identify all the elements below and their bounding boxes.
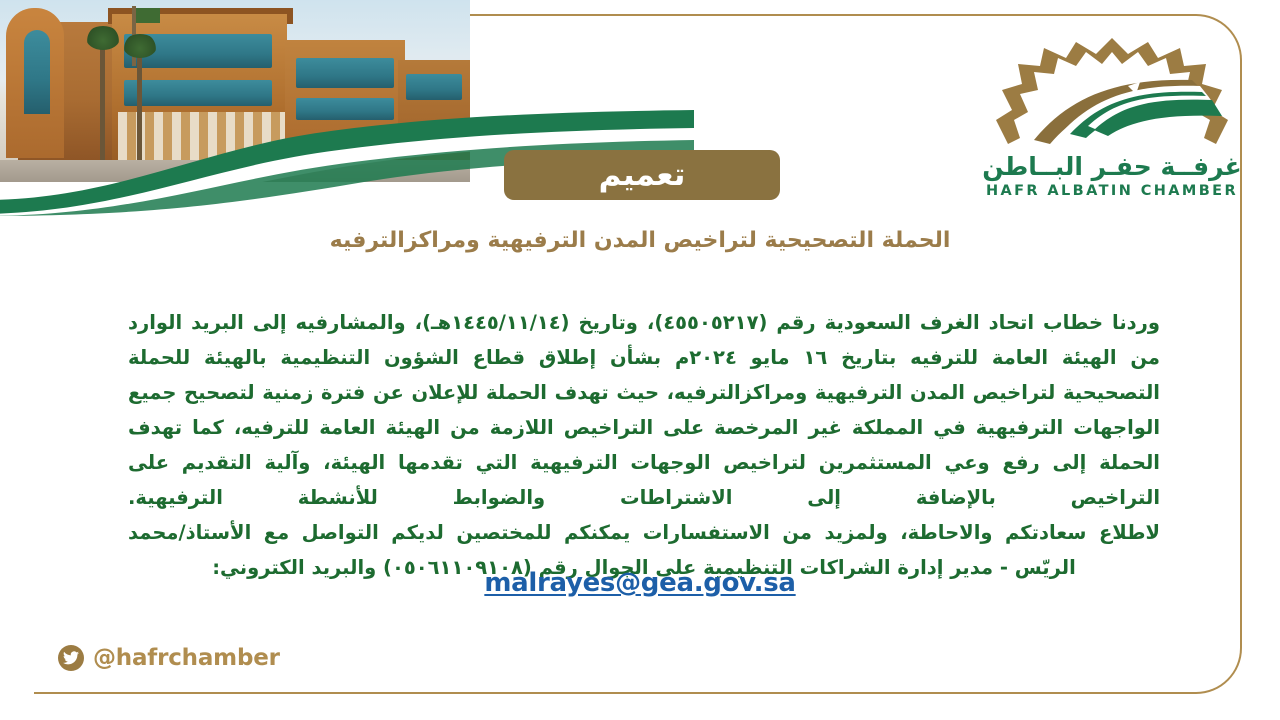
body-text: وردنا خطاب اتحاد الغرف السعودية رقم (٤٥٥…	[128, 305, 1160, 585]
twitter-footer[interactable]: @hafrchamber	[58, 645, 280, 671]
photo-image	[0, 0, 470, 180]
logo-arabic-name: غرفــة حفـر البــاطن	[978, 154, 1246, 180]
page-subtitle: الحملة التصحيحية لتراخيص المدن الترفيهية…	[0, 228, 1280, 253]
chamber-building-photo	[0, 0, 470, 205]
far-right-glass	[406, 74, 462, 100]
palm-trunk-1	[100, 36, 105, 164]
twitter-handle-label: @hafrchamber	[93, 645, 280, 671]
right-glass-lower	[296, 98, 394, 120]
palm-crown-2	[123, 34, 157, 58]
palm-trunk-2	[137, 44, 142, 164]
right-glass-upper	[296, 58, 394, 88]
circular-poster: غرفــة حفـر البــاطن HAFR ALBATIN CHAMBE…	[0, 0, 1280, 720]
mid-glass-lower	[124, 80, 272, 106]
contact-email-line: malrayes@gea.gov.sa	[0, 568, 1280, 598]
logo-english-name: HAFR ALBATIN CHAMBER	[978, 183, 1246, 199]
contact-email-link[interactable]: malrayes@gea.gov.sa	[484, 568, 795, 598]
palm-crown-1	[86, 26, 120, 50]
circular-title-badge: تعميم	[504, 150, 780, 200]
circular-title-label: تعميم	[599, 157, 686, 193]
flag	[136, 8, 160, 23]
body-paragraph-1: وردنا خطاب اتحاد الغرف السعودية رقم (٤٥٥…	[128, 305, 1160, 515]
chamber-logo: غرفــة حفـر البــاطن HAFR ALBATIN CHAMBE…	[978, 34, 1246, 210]
photo-ground	[0, 160, 470, 182]
twitter-bird-icon	[58, 645, 84, 671]
tower-glass	[24, 30, 50, 114]
building-colonnade	[118, 112, 286, 166]
chamber-logo-mark-icon	[978, 34, 1246, 152]
